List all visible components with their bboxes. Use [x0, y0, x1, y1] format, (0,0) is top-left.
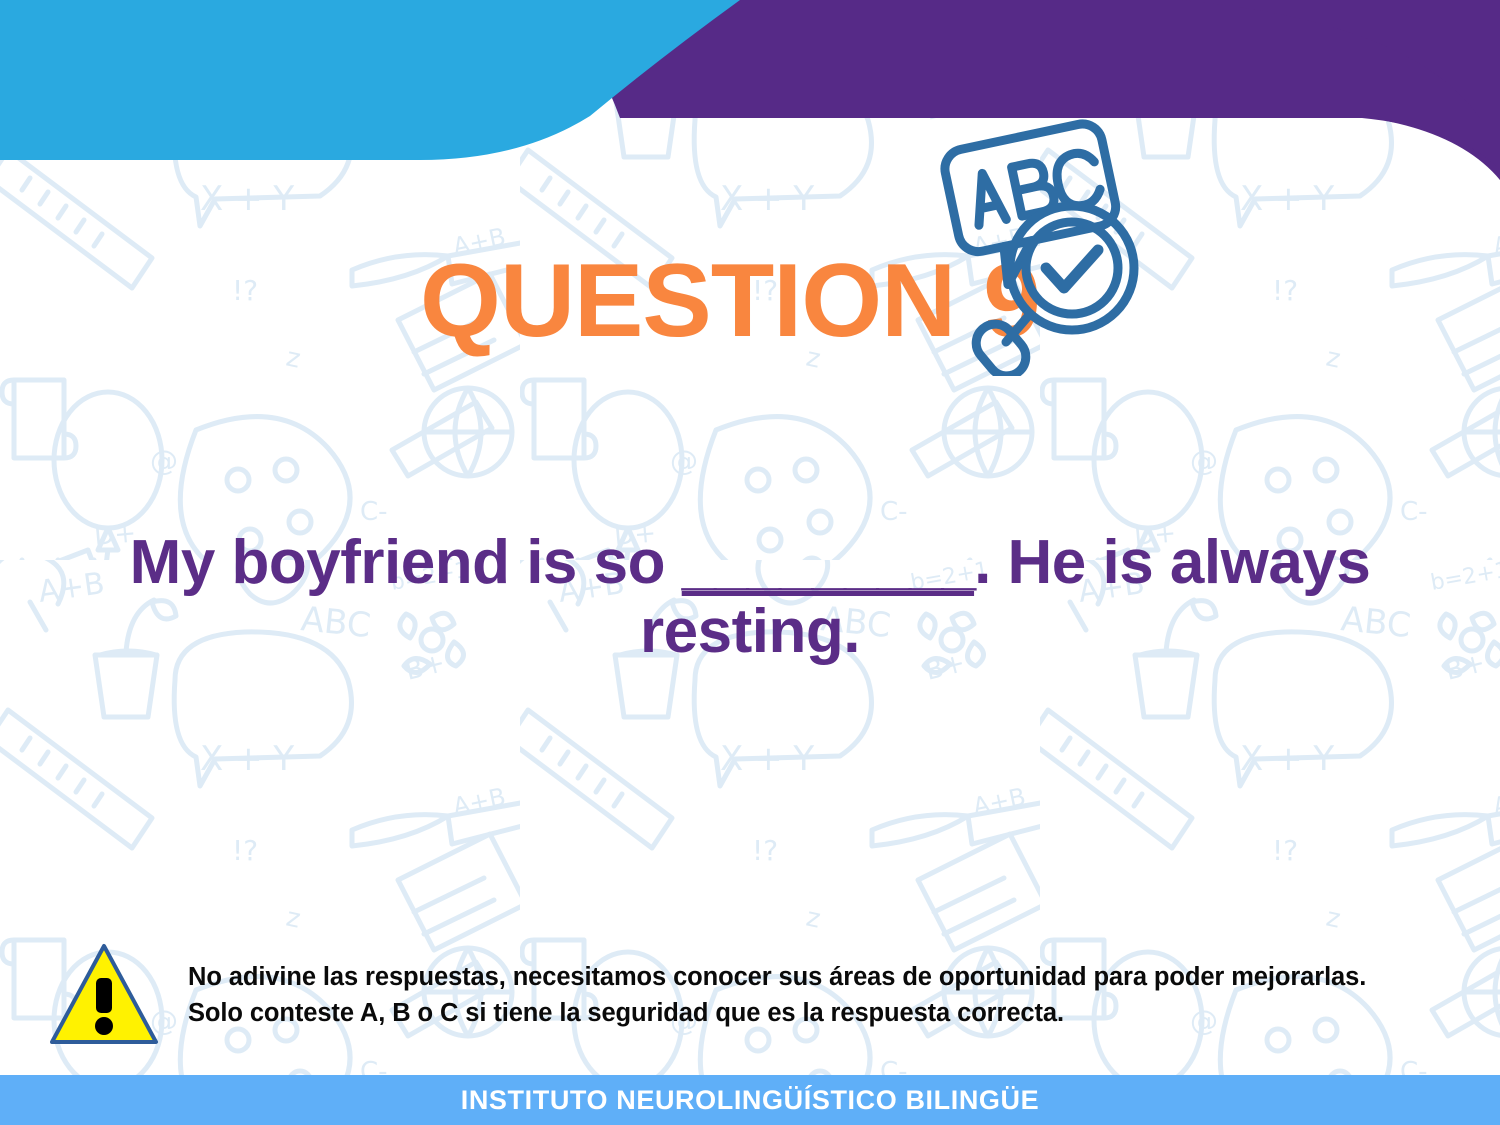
title-row: QUESTION 9 [0, 236, 1500, 366]
warning-row: No adivine las respuestas, necesitamos c… [48, 935, 1448, 1055]
warning-text: No adivine las respuestas, necesitamos c… [188, 959, 1388, 1031]
footer-title: INSTITUTO NEUROLINGÜÍSTICO BILINGÜE [461, 1085, 1040, 1116]
question-text: My boyfriend is so _________. He is alwa… [60, 528, 1440, 667]
question-before-blank: My boyfriend is so [130, 528, 682, 597]
warning-triangle-icon [48, 940, 160, 1050]
footer-bar: INSTITUTO NEUROLINGÜÍSTICO BILINGÜE [0, 1075, 1500, 1125]
question-blank: _________ [682, 528, 974, 597]
slide-canvas: A+B ABC !? z @ b=2+1 B+ D+ C- 12 3 X + Y… [0, 0, 1500, 1125]
purple-corner-curve [1180, 0, 1500, 180]
question-block: My boyfriend is so _________. He is alwa… [60, 528, 1440, 667]
abc-magnifier-icon [930, 116, 1150, 376]
